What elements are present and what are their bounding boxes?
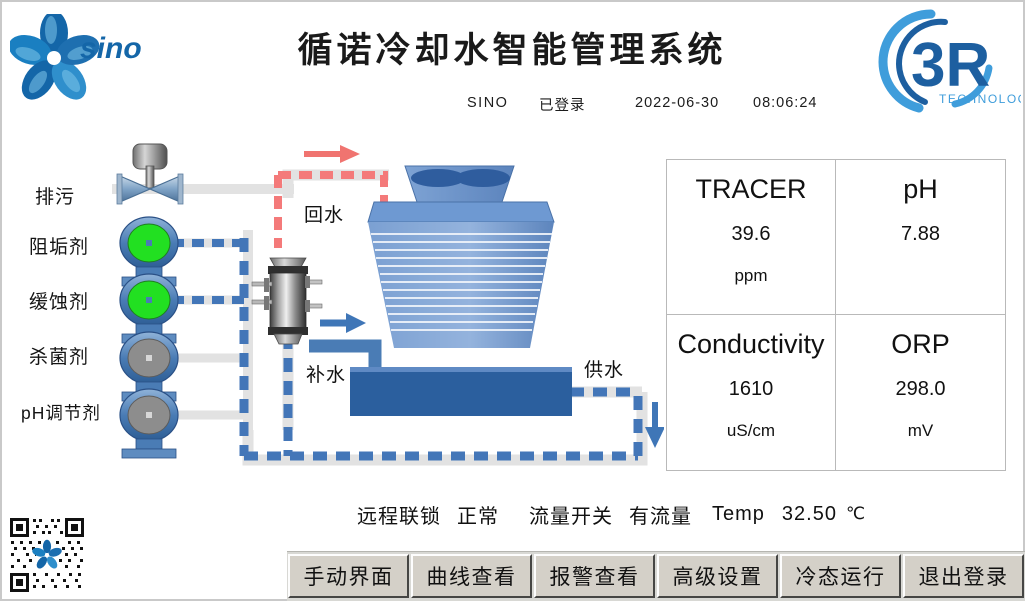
conductivity-value: 1610 bbox=[729, 378, 774, 401]
dosing-pump-ph-adjuster[interactable] bbox=[120, 389, 178, 458]
button-manual-interface[interactable]: 手动界面 bbox=[288, 554, 409, 598]
sino-logo-text: sino bbox=[80, 32, 142, 65]
tracer-label: TRACER bbox=[695, 174, 806, 205]
flow-switch-label: 流量开关 bbox=[529, 500, 613, 529]
remote-interlock-label: 远程联锁 bbox=[357, 500, 441, 529]
tracer-unit: ppm bbox=[734, 266, 767, 286]
label-makeup-water: 补水 bbox=[306, 360, 346, 387]
logged-in-user: SINO bbox=[467, 95, 508, 111]
login-status: 已登录 bbox=[539, 94, 586, 115]
button-cold-start-run[interactable]: 冷态运行 bbox=[780, 554, 901, 598]
button-logout[interactable]: 退出登录 bbox=[903, 554, 1024, 598]
makeup-flow-arrow bbox=[320, 313, 366, 333]
temperature-label: Temp bbox=[712, 503, 765, 526]
flow-switch-value: 有流量 bbox=[629, 500, 692, 529]
orp-value: 298.0 bbox=[895, 378, 945, 401]
measurement-cell-conductivity[interactable]: Conductivity 1610 uS/cm bbox=[667, 315, 836, 470]
ph-value: 7.88 bbox=[901, 223, 940, 246]
measurement-cell-tracer[interactable]: TRACER 39.6 ppm bbox=[667, 160, 836, 315]
tracer-value: 39.6 bbox=[732, 223, 771, 246]
orp-unit: mV bbox=[908, 421, 934, 441]
sino-logo: sino bbox=[10, 14, 160, 100]
qr-code bbox=[7, 515, 87, 595]
header-bar: sino 循诺冷却水智能管理系统 SINO 已登录 2022-06-30 08:… bbox=[2, 2, 1023, 124]
analyzer-vessel[interactable] bbox=[252, 258, 322, 344]
button-advanced-settings[interactable]: 高级设置 bbox=[657, 554, 778, 598]
3r-logo-text: 3R bbox=[911, 31, 990, 100]
3r-technology-logo: 3R TECHNOLOGY bbox=[859, 6, 1021, 118]
chemical-feed-flow bbox=[172, 243, 244, 300]
label-supply-water: 供水 bbox=[584, 355, 624, 382]
ph-label: pH bbox=[903, 174, 938, 205]
button-alarm-view[interactable]: 报警查看 bbox=[534, 554, 655, 598]
application-window: sino 循诺冷却水智能管理系统 SINO 已登录 2022-06-30 08:… bbox=[0, 0, 1025, 601]
blowdown-valve[interactable] bbox=[117, 144, 183, 204]
system-date: 2022-06-30 bbox=[635, 95, 719, 111]
temperature-unit: ℃ bbox=[846, 504, 865, 524]
measurement-cell-orp[interactable]: ORP 298.0 mV bbox=[836, 315, 1005, 470]
page-title: 循诺冷却水智能管理系统 bbox=[252, 22, 772, 73]
cooling-tower bbox=[350, 166, 572, 416]
button-curve-view[interactable]: 曲线查看 bbox=[411, 554, 532, 598]
remote-interlock-value: 正常 bbox=[457, 500, 499, 529]
process-flow-diagram bbox=[2, 130, 664, 480]
navigation-button-bar: 手动界面 曲线查看 报警查看 高级设置 冷态运行 退出登录 bbox=[287, 551, 1025, 601]
blowdown-flow-arrow bbox=[304, 145, 360, 163]
conductivity-unit: uS/cm bbox=[727, 421, 775, 441]
conductivity-label: Conductivity bbox=[677, 329, 824, 360]
label-return-water: 回水 bbox=[304, 200, 344, 227]
temperature-value: 32.50 bbox=[782, 503, 837, 526]
supply-flow-arrow bbox=[645, 402, 664, 448]
system-time: 08:06:24 bbox=[753, 95, 817, 111]
orp-label: ORP bbox=[891, 329, 950, 360]
measurement-panel: TRACER 39.6 ppm pH 7.88 Conductivity 161… bbox=[666, 159, 1006, 471]
measurement-cell-ph[interactable]: pH 7.88 bbox=[836, 160, 1005, 315]
status-bar: 远程联锁 正常 流量开关 有流量 Temp 32.50 ℃ bbox=[357, 499, 865, 529]
3r-logo-subtext: TECHNOLOGY bbox=[939, 92, 1021, 106]
